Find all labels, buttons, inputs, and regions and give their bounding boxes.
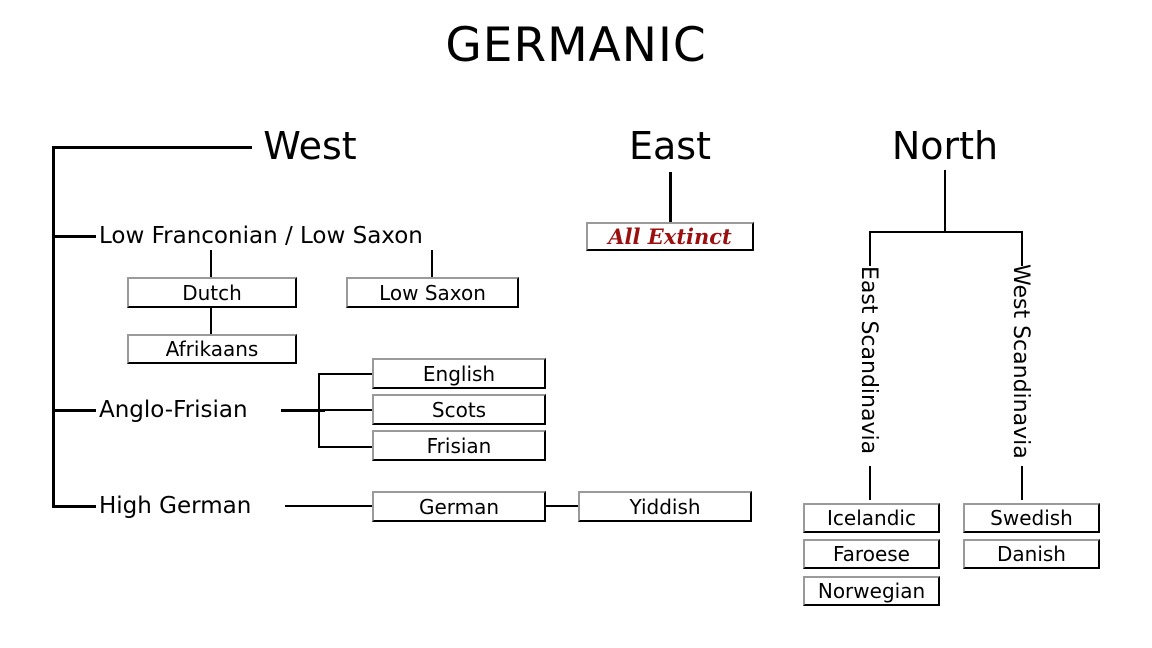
north-trunk-line (944, 170, 946, 232)
branch-title-north: North (845, 124, 1045, 168)
language-box-norwegian[interactable]: Norwegian (803, 576, 940, 606)
language-box-faroese[interactable]: Faroese (803, 539, 940, 569)
page-title: GERMANIC (400, 18, 752, 73)
high-german-to-german-line (285, 505, 373, 507)
connector-to-low-saxon (431, 250, 433, 278)
west-trunk-line (52, 146, 55, 508)
group-label-east-scandinavia: East Scandinavia (856, 266, 881, 454)
language-box-danish[interactable]: Danish (963, 539, 1100, 569)
language-box-icelandic[interactable]: Icelandic (803, 503, 940, 533)
north-branch-line-east-scandinavia (869, 231, 871, 266)
group-label-west-scandinavia: West Scandinavia (1008, 264, 1033, 459)
group-label-low-franconian-low-saxon: Low Franconian / Low Saxon (99, 223, 423, 249)
connector-to-dutch (210, 250, 212, 278)
language-box-frisian[interactable]: Frisian (372, 430, 546, 461)
west-stub-anglo-frisian (52, 409, 96, 412)
group-label-high-german: High German (99, 493, 251, 519)
language-box-yiddish[interactable]: Yiddish (578, 491, 752, 522)
group-label-anglo-frisian: Anglo-Frisian (99, 397, 248, 423)
language-box-scots[interactable]: Scots (372, 394, 546, 425)
connector-to-swedish (1021, 466, 1023, 500)
bracket-arm-scots (318, 409, 374, 411)
connector-dutch-to-afrikaans (210, 307, 212, 334)
language-box-afrikaans[interactable]: Afrikaans (127, 334, 297, 364)
connector-german-to-yiddish (546, 505, 579, 507)
north-branch-line-west-scandinavia (1021, 231, 1023, 266)
north-split-bar (869, 231, 1023, 233)
bracket-arm-frisian (318, 446, 374, 448)
connector-to-icelandic (869, 466, 871, 500)
branch-title-east: East (570, 124, 770, 168)
language-box-dutch[interactable]: Dutch (127, 277, 297, 308)
west-stub-low-franconian (52, 235, 96, 238)
germanic-language-tree-diagram: GERMANIC West Low Franconian / Low Saxon… (0, 0, 1152, 648)
language-box-swedish[interactable]: Swedish (963, 503, 1100, 533)
west-stub-high-german (52, 505, 96, 508)
language-box-low-saxon[interactable]: Low Saxon (346, 277, 519, 308)
language-box-english[interactable]: English (372, 358, 546, 389)
bracket-arm-english (318, 373, 374, 375)
west-title-connector (52, 146, 252, 149)
east-trunk-line (669, 172, 672, 222)
language-box-german[interactable]: German (372, 491, 546, 522)
status-badge-all-extinct: All Extinct (586, 222, 754, 251)
